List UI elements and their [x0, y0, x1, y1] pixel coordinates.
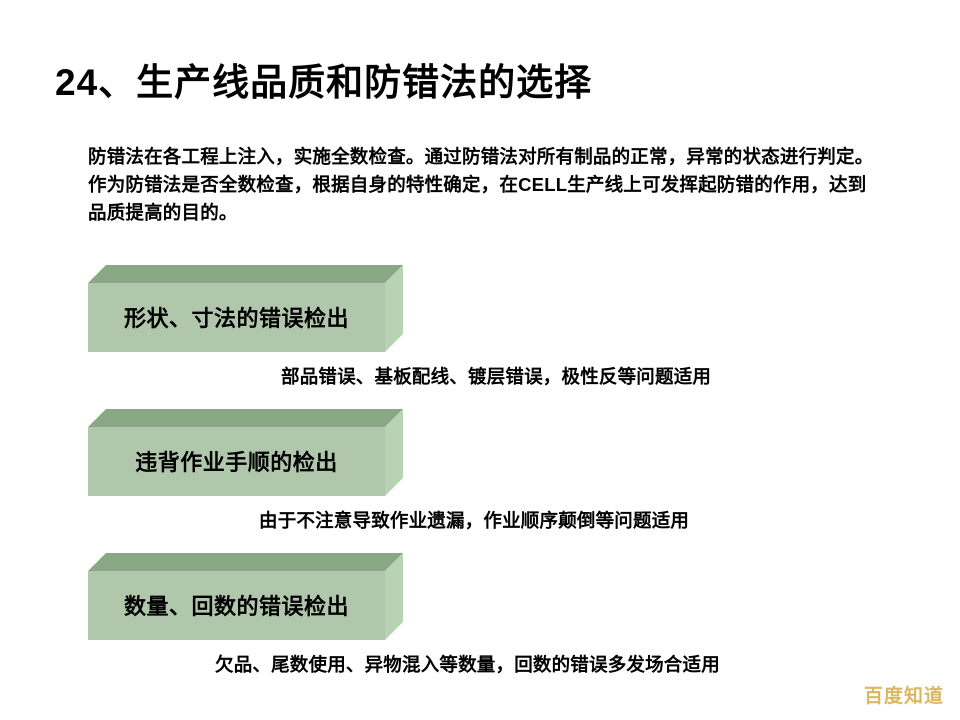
- page-title: 24、生产线品质和防错法的选择: [55, 62, 592, 105]
- box-top-face: [88, 553, 403, 571]
- process-caption-3: 欠品、尾数使用、异物混入等数量，回数的错误多发场合适用: [215, 651, 720, 677]
- process-box-3: 数量、回数的错误检出: [88, 553, 403, 640]
- box-top-face: [88, 265, 403, 283]
- process-box-label: 形状、寸法的错误检出: [88, 283, 385, 352]
- process-box-1: 形状、寸法的错误检出: [88, 265, 403, 352]
- process-caption-2: 由于不注意导致作业遗漏，作业顺序颠倒等问题适用: [259, 507, 689, 533]
- box-top-face: [88, 409, 403, 427]
- process-caption-1: 部品错误、基板配线、镀层错误，极性反等问题适用: [281, 363, 711, 389]
- slide-canvas: 24、生产线品质和防错法的选择 防错法在各工程上注入，实施全数检查。通过防错法对…: [0, 0, 960, 720]
- watermark: 百度知道: [864, 681, 944, 708]
- process-box-label: 违背作业手顺的检出: [88, 427, 385, 496]
- process-box-2: 违背作业手顺的检出: [88, 409, 403, 496]
- process-box-label: 数量、回数的错误检出: [88, 571, 385, 640]
- intro-paragraph: 防错法在各工程上注入，实施全数检查。通过防错法对所有制品的正常，异常的状态进行判…: [88, 143, 878, 227]
